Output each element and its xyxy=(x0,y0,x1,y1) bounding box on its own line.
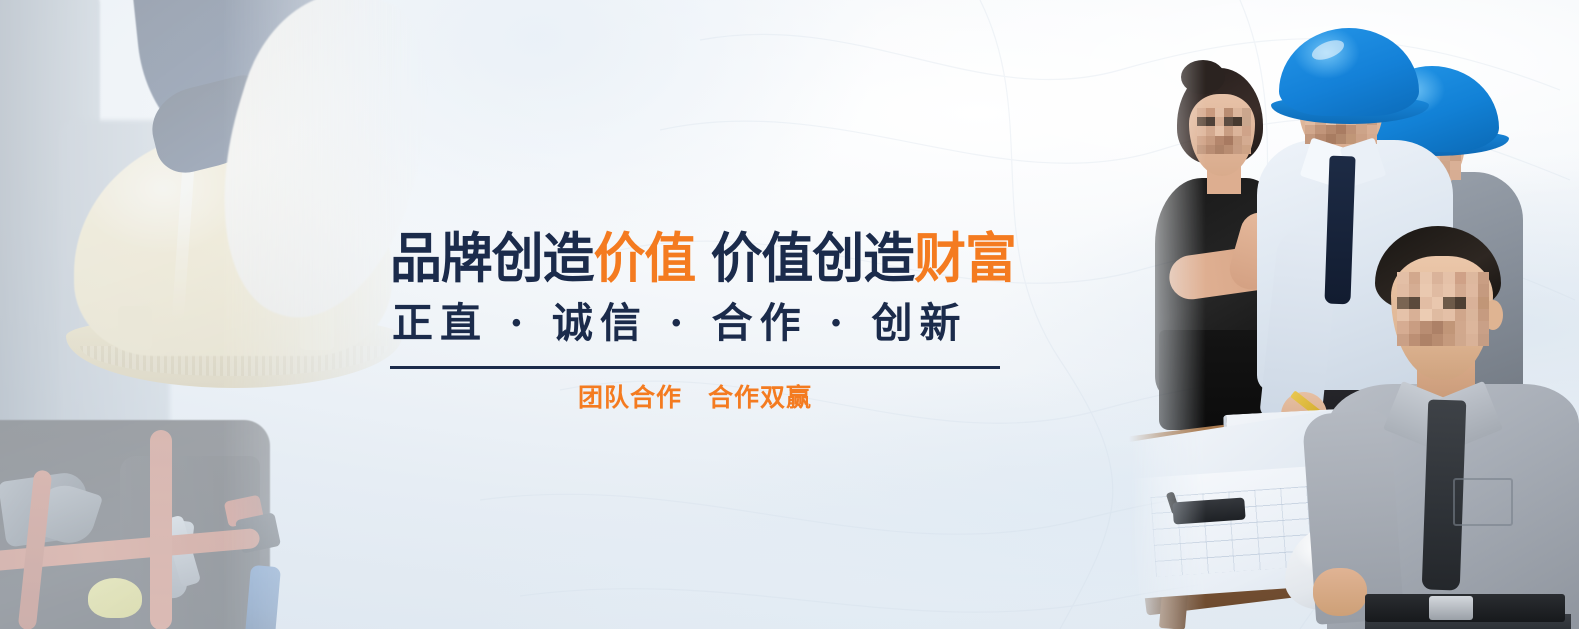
banner-subtitle: 正直 · 诚信 · 合作 · 创新 xyxy=(392,298,1090,348)
navy-necktie xyxy=(1324,156,1355,305)
headline-part-2-accent: 价值 xyxy=(594,227,696,290)
left-photo-construction-worker xyxy=(0,0,430,629)
woman-face-mosaic xyxy=(1197,108,1251,154)
screwdriver-icon xyxy=(245,565,281,629)
headline-part-3: 价值创造 xyxy=(711,227,915,290)
headline-part-4-accent: 财富 xyxy=(914,227,1016,290)
tool-belt-trim-vertical xyxy=(150,430,172,629)
shirt-pocket xyxy=(1453,478,1513,526)
banner-text-block: 品牌创造价值价值创造财富 正直 · 诚信 · 合作 · 创新 团队合作 合作双赢 xyxy=(390,228,1090,413)
promotional-banner: 品牌创造价值价值创造财富 正直 · 诚信 · 合作 · 创新 团队合作 合作双赢 xyxy=(0,0,1579,629)
banner-headline: 品牌创造价值价值创造财富 xyxy=(390,228,1062,290)
text-divider-line xyxy=(390,366,1000,369)
foreground-man-hand xyxy=(1313,568,1367,616)
right-photo-engineering-team xyxy=(1129,0,1579,629)
woman-hair-bun xyxy=(1181,60,1225,94)
foreground-man-face-mosaic xyxy=(1397,272,1489,346)
yellow-tool xyxy=(88,578,142,618)
belt-buckle xyxy=(1429,596,1473,620)
hard-hat-clip-left xyxy=(118,306,152,350)
blue-hard-hat-1 xyxy=(1279,28,1419,116)
headline-part-1: 品牌创造 xyxy=(390,227,594,290)
banner-tagline: 团队合作 合作双赢 xyxy=(390,383,1000,413)
